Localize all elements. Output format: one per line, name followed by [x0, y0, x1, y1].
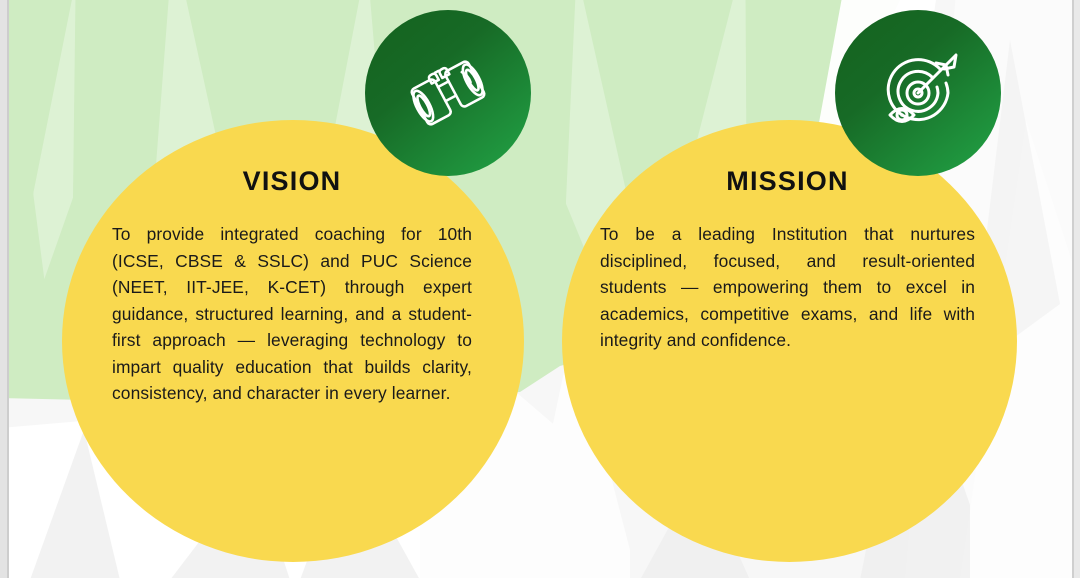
vision-card-content: VISION To provide integrated coaching fo… [62, 166, 524, 407]
mission-card: MISSION To be a leading Institution that… [562, 120, 1017, 562]
vision-body-text: To provide integrated coaching for 10th … [112, 221, 472, 407]
vision-card: VISION To provide integrated coaching fo… [62, 120, 524, 562]
mission-card-content: MISSION To be a leading Institution that… [562, 166, 1017, 354]
target-eye-icon [868, 43, 968, 143]
page-frame-left [0, 0, 8, 578]
vision-icon-badge [365, 10, 531, 176]
mission-body-text: To be a leading Institution that nurture… [600, 221, 975, 354]
page-frame-right [1072, 0, 1080, 578]
mission-icon-badge [835, 10, 1001, 176]
slide-canvas: VISION To provide integrated coaching fo… [0, 0, 1080, 578]
binoculars-icon [398, 43, 498, 143]
